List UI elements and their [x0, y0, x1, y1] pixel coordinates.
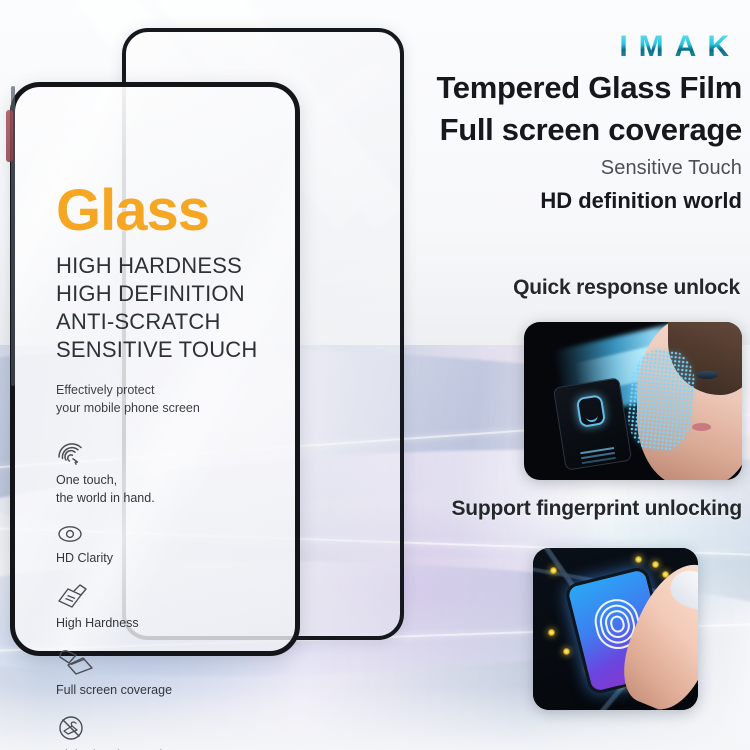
- product-copy: Glass HIGH HARDNESS HIGH DEFINITION ANTI…: [56, 182, 306, 750]
- protection-note-line1: Effectively protect: [56, 381, 306, 399]
- feature-line: SENSITIVE TOUCH: [56, 336, 306, 364]
- icon-feature-full-coverage: Full screen coverage: [56, 647, 306, 700]
- face-eye: [696, 371, 718, 379]
- icon-feature-hd-clarity: HD Clarity: [56, 523, 306, 568]
- circuit-dot: [652, 561, 659, 568]
- icon-caption-line1: One touch,: [56, 472, 306, 490]
- eye-icon: [56, 523, 84, 545]
- icon-feature-caption: HD Clarity: [56, 550, 306, 568]
- icon-feature-one-touch: One touch, the world in hand.: [56, 437, 306, 508]
- feature-line: HIGH HARDNESS: [56, 252, 306, 280]
- feature-list: HIGH HARDNESS HIGH DEFINITION ANTI-SCRAT…: [56, 252, 306, 365]
- feature-line: HIGH DEFINITION: [56, 280, 306, 308]
- icon-feature-caption: One touch, the world in hand.: [56, 472, 306, 508]
- brand-logo: IMAK: [322, 30, 742, 64]
- product-title: Glass: [56, 182, 306, 240]
- fingernail: [666, 565, 698, 615]
- full-coverage-icon: [56, 647, 96, 677]
- icon-caption-line2: the world in hand.: [56, 490, 306, 508]
- section-title-quick-response: Quick response unlock: [513, 276, 740, 300]
- icon-feature-list: One touch, the world in hand. HD Clarity: [56, 437, 306, 750]
- scanning-phone: [553, 377, 633, 471]
- section-title-fingerprint: Support fingerprint unlocking: [451, 497, 742, 521]
- icon-feature-caption: High Hardness: [56, 615, 306, 633]
- icon-feature-high-hardness: High Hardness: [56, 582, 306, 633]
- headline-sub2: HD definition world: [322, 188, 742, 214]
- hardness-pencil-icon: [56, 582, 90, 610]
- icon-feature-caption: High Abrasion Resistant: [56, 747, 306, 750]
- abrasion-resistant-icon: [56, 714, 86, 742]
- face-id-icon: [575, 394, 605, 428]
- face-unlock-photo: [524, 322, 742, 480]
- protection-note-line2: your mobile phone screen: [56, 399, 306, 417]
- circuit-dot: [550, 567, 557, 574]
- marketing-header: IMAK Tempered Glass Film Full screen cov…: [322, 30, 742, 214]
- headline-line2: Full screen coverage: [322, 112, 742, 148]
- fingerprint-touch-icon: [56, 437, 86, 467]
- icon-feature-caption: Full screen coverage: [56, 682, 306, 700]
- icon-feature-abrasion: High Abrasion Resistant: [56, 714, 306, 750]
- fingerprint-unlock-photo: [533, 548, 698, 710]
- phone-ui-bars: [580, 447, 614, 454]
- phone-side-button: [6, 110, 13, 162]
- headline-line1: Tempered Glass Film: [322, 70, 742, 106]
- product-banner: Glass HIGH HARDNESS HIGH DEFINITION ANTI…: [0, 0, 750, 750]
- headline-sub1: Sensitive Touch: [322, 157, 742, 180]
- protection-note: Effectively protect your mobile phone sc…: [56, 381, 306, 417]
- feature-line: ANTI-SCRATCH: [56, 308, 306, 336]
- circuit-dot: [548, 629, 555, 636]
